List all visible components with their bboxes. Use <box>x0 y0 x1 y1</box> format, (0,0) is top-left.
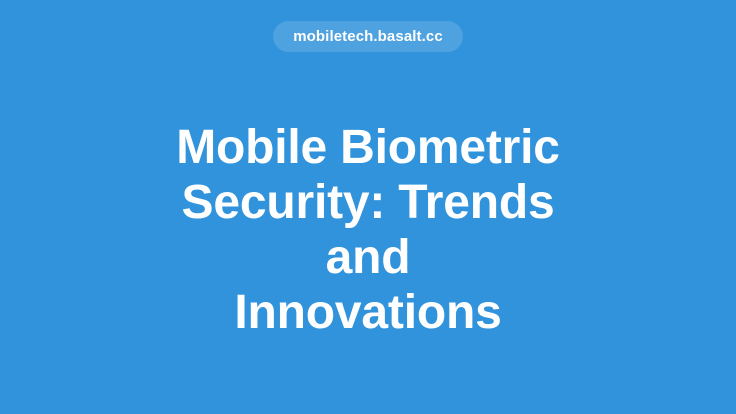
page-title-line-3: Innovations <box>133 285 603 340</box>
page-title-line-1: Mobile Biometric <box>133 120 603 175</box>
domain-pill-label: mobiletech.basalt.cc <box>293 29 443 44</box>
headline-block: Mobile Biometric Security: Trends and In… <box>60 120 676 340</box>
domain-pill[interactable]: mobiletech.basalt.cc <box>273 21 463 52</box>
title-card-slide: mobiletech.basalt.cc Mobile Biometric Se… <box>0 0 736 414</box>
page-title: Mobile Biometric Security: Trends and In… <box>133 120 603 340</box>
domain-pill-row: mobiletech.basalt.cc <box>0 21 736 52</box>
page-title-line-2: Security: Trends and <box>133 175 603 285</box>
